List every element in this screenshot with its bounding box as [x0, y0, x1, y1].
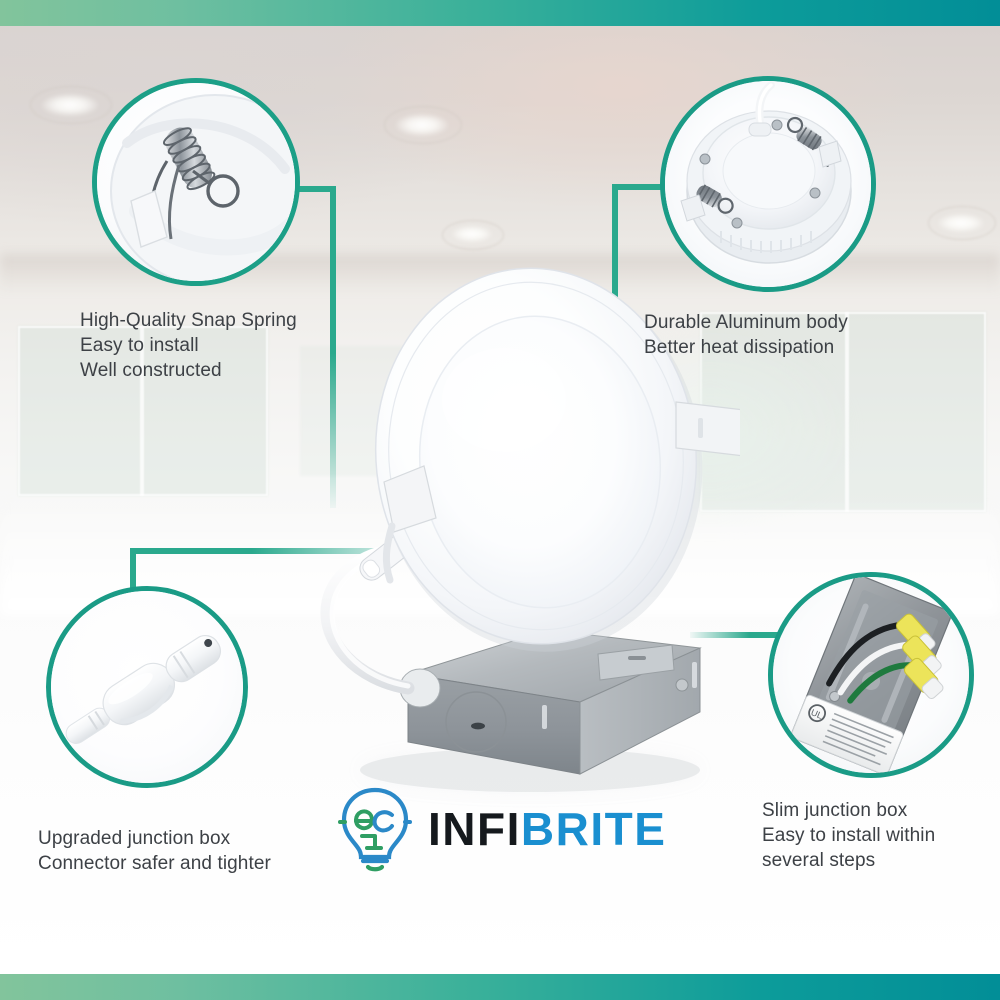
caption-aluminum-body: Durable Aluminum body Better heat dissip…	[644, 310, 944, 360]
box-tab-2	[692, 662, 697, 688]
caption-slim-junction-box: Slim junction box Easy to install within…	[762, 798, 992, 873]
callout-circle-aluminum-body[interactable]	[660, 76, 876, 292]
aluminum-body-photo	[665, 81, 871, 287]
ceiling-light-ring-3	[442, 220, 504, 250]
housing-cable-grommet	[749, 123, 771, 136]
housing-center	[723, 133, 815, 209]
snap-spring-photo	[97, 83, 295, 281]
box-screw	[676, 679, 688, 691]
spring-clip-right	[676, 402, 740, 456]
ceiling-light-ring-4	[928, 206, 996, 240]
disc-highlight	[442, 348, 566, 452]
caption-snap-spring: High-Quality Snap Spring Easy to install…	[80, 308, 380, 383]
lightbulb-infinity-icon	[336, 786, 414, 872]
bracket-slot	[628, 656, 646, 660]
housing-screw-3	[810, 188, 820, 198]
brand-logo: INFIBRITE	[336, 786, 666, 872]
caption-connector: Upgraded junction box Connector safer an…	[38, 826, 348, 876]
top-gradient-border	[0, 0, 1000, 26]
housing-screw-4	[732, 218, 742, 228]
callout-circle-snap-spring[interactable]	[92, 78, 300, 286]
housing-screw-2	[700, 154, 710, 164]
spring-clip-right-slot	[698, 418, 703, 438]
connector-photo	[51, 591, 243, 783]
connector-seg-h	[612, 184, 666, 190]
callout-circle-connector[interactable]	[46, 586, 248, 788]
housing-screw-1	[772, 120, 782, 130]
slim-junction-box-photo: UL	[773, 577, 969, 773]
brand-wordmark: INFIBRITE	[428, 806, 666, 852]
product-feature-infographic: UL	[0, 0, 1000, 1000]
knockout-slot	[471, 723, 485, 730]
brand-wordmark-brite: BRITE	[521, 803, 667, 855]
brand-wordmark-infi: INFI	[428, 803, 521, 855]
callout-circle-slim-junction-box[interactable]: UL	[768, 572, 974, 778]
bottom-gradient-border	[0, 974, 1000, 1000]
box-tab-1	[542, 705, 547, 729]
ceiling-light-ring-2	[384, 106, 462, 144]
